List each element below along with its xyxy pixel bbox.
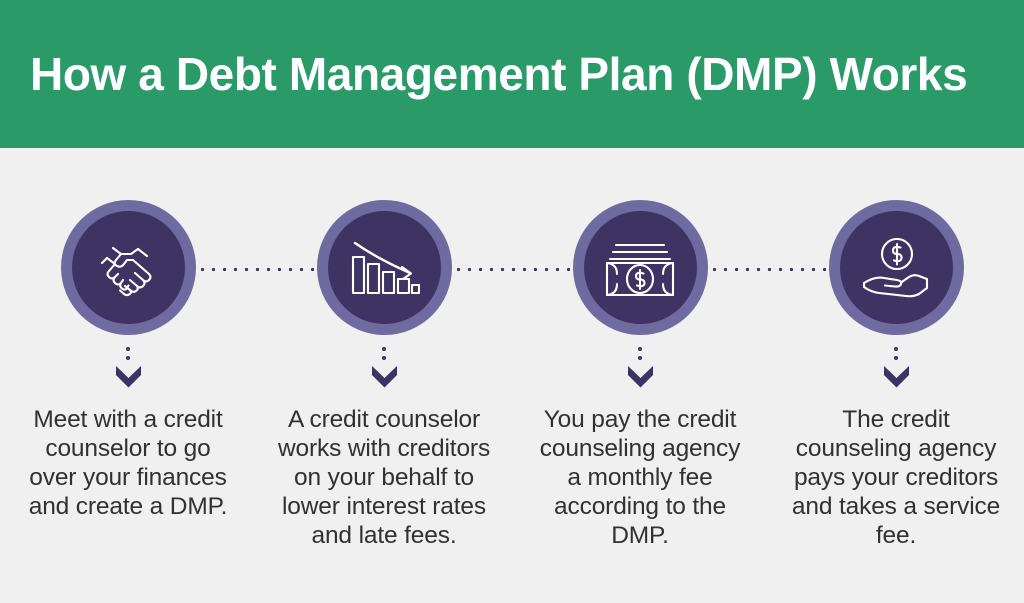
step-3-badge-inner bbox=[584, 211, 697, 324]
chevron-down-icon bbox=[884, 366, 909, 393]
steps-row: Meet with a credit counselor to go over … bbox=[0, 148, 1024, 603]
drop-dot bbox=[638, 347, 642, 351]
step-4-caption: The credit counseling agency pays your c… bbox=[789, 405, 1004, 550]
hand-holding-coin-icon bbox=[859, 236, 933, 300]
step-4-badge bbox=[829, 200, 964, 335]
step-4-badge-inner bbox=[840, 211, 953, 324]
step-2-badge bbox=[317, 200, 452, 335]
drop-dot bbox=[894, 356, 898, 360]
page-title: How a Debt Management Plan (DMP) Works bbox=[0, 51, 967, 97]
step-3-badge bbox=[573, 200, 708, 335]
cash-stack-icon bbox=[603, 237, 677, 299]
drop-dot bbox=[126, 356, 130, 360]
step-4-drop-arrow bbox=[883, 347, 909, 393]
drop-dot bbox=[382, 347, 386, 351]
step-2: A credit counselor works with creditors … bbox=[256, 148, 512, 603]
handshake-icon bbox=[91, 238, 165, 298]
step-1-caption: Meet with a credit counselor to go over … bbox=[21, 405, 236, 521]
chevron-down-icon bbox=[372, 366, 397, 393]
step-2-badge-inner bbox=[328, 211, 441, 324]
infographic-page: How a Debt Management Plan (DMP) Works bbox=[0, 0, 1024, 603]
drop-dot bbox=[638, 356, 642, 360]
step-3-caption: You pay the credit counseling agency a m… bbox=[533, 405, 748, 550]
step-1-badge bbox=[61, 200, 196, 335]
step-3: You pay the credit counseling agency a m… bbox=[512, 148, 768, 603]
step-2-drop-arrow bbox=[371, 347, 397, 393]
step-3-drop-arrow bbox=[627, 347, 653, 393]
drop-dot bbox=[894, 347, 898, 351]
declining-bar-chart-icon bbox=[348, 237, 420, 299]
step-1-badge-inner bbox=[72, 211, 185, 324]
header-banner: How a Debt Management Plan (DMP) Works bbox=[0, 0, 1024, 148]
step-1: Meet with a credit counselor to go over … bbox=[0, 148, 256, 603]
drop-dot bbox=[382, 356, 386, 360]
step-2-caption: A credit counselor works with creditors … bbox=[277, 405, 492, 550]
drop-dot bbox=[126, 347, 130, 351]
chevron-down-icon bbox=[628, 366, 653, 393]
step-4: The credit counseling agency pays your c… bbox=[768, 148, 1024, 603]
step-1-drop-arrow bbox=[115, 347, 141, 393]
chevron-down-icon bbox=[116, 366, 141, 393]
